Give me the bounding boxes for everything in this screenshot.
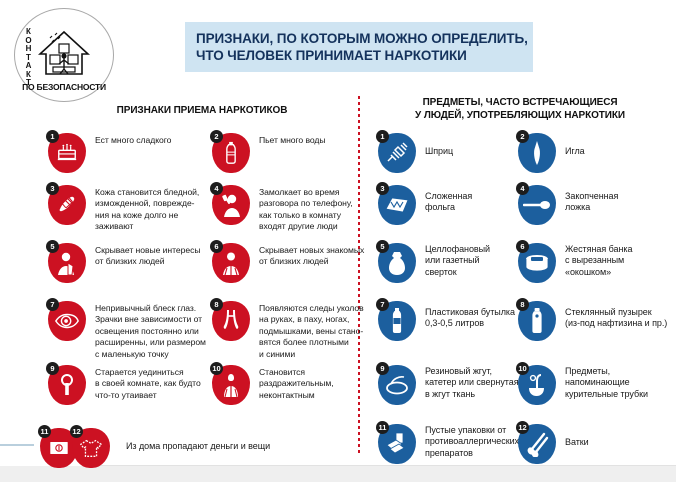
icon-badge: 1: [48, 133, 86, 173]
item-number: 11: [376, 421, 389, 434]
page-title-line2: ЧТО ЧЕЛОВЕК ПРИНИМАЕТ НАРКОТИКИ: [196, 47, 533, 64]
icon-badge: 5: [378, 243, 416, 283]
icon-badge-pair: 11 12: [40, 428, 110, 468]
item-number: 2: [516, 130, 529, 143]
item-number: 9: [376, 362, 389, 375]
item-text: Становится раздражительным, неконтактным: [250, 365, 334, 401]
item-number: 11: [38, 425, 51, 438]
item-text: Ест много сладкого: [86, 133, 171, 146]
list-item: 7 Непривычный блеск глаз. Зрачки вне зав…: [48, 301, 206, 360]
item-text: Скрывает новые интересы от близких людей: [86, 243, 200, 268]
item-text: Закопченная ложка: [556, 185, 618, 214]
icon-badge: 2: [518, 133, 556, 173]
item-text: Ватки: [556, 424, 589, 448]
list-item: 4 Закопченная ложка: [518, 185, 658, 225]
icon-badge: 11: [378, 424, 416, 464]
item-text: Пустые упаковки от противоаллергических …: [416, 424, 519, 459]
item-text: Скрывает новых знакомых от близких людей: [250, 243, 364, 268]
item-number: 5: [376, 240, 389, 253]
item-text: Стеклянный пузырек (из-под нафтизина и п…: [556, 301, 667, 330]
item-number: 2: [210, 130, 223, 143]
icon-badge: 7: [48, 301, 86, 341]
icon-badge: 12: [72, 428, 110, 468]
item-text: Непривычный блеск глаз. Зрачки вне завис…: [86, 301, 206, 360]
list-item: 11 Пустые упаковки от противоаллергическ…: [378, 424, 518, 464]
item-number: 7: [46, 298, 59, 311]
icon-badge: 12: [518, 424, 556, 464]
list-item: 1 Шприц: [378, 133, 518, 173]
item-text: Появляются следы уколов на руках, в паху…: [250, 301, 364, 360]
item-number: 7: [376, 298, 389, 311]
item-text: Игла: [556, 133, 585, 157]
decorative-rule-left: [0, 444, 34, 446]
item-text: Резиновый жгут, катетер или свернутая в …: [416, 365, 519, 400]
item-number: 10: [516, 362, 529, 375]
page-title-line1: ПРИЗНАКИ, ПО КОТОРЫМ МОЖНО ОПРЕДЕЛИТЬ,: [196, 30, 533, 47]
icon-badge: 10: [518, 365, 556, 405]
list-item: 9 Старается уединиться в своей комнате, …: [48, 365, 206, 405]
icon-badge: 1: [378, 133, 416, 173]
organization-logo: КОНТАКТ ПО БЕЗОПАСНОСТИ: [8, 6, 120, 104]
item-number: 4: [516, 182, 529, 195]
logo-vertical-word: КОНТАКТ: [24, 28, 33, 88]
item-number: 4: [210, 182, 223, 195]
right-column-heading: ПРЕДМЕТЫ, ЧАСТО ВСТРЕЧАЮЩИЕСЯ У ЛЮДЕЙ, У…: [372, 96, 668, 122]
list-item: 9 Резиновый жгут, катетер или свернутая …: [378, 365, 523, 405]
icon-badge: 9: [378, 365, 416, 405]
item-text: Кожа становится бледной, изможденной, по…: [86, 185, 203, 233]
list-item: 6 Жестяная банка с вырезанным «окошком»: [518, 243, 663, 283]
icon-badge: 7: [378, 301, 416, 341]
icon-badge: 5: [48, 243, 86, 283]
item-text: Старается уединиться в своей комнате, ка…: [86, 365, 201, 401]
logo-bottom-text: ПО БЕЗОПАСНОСТИ: [14, 82, 114, 92]
item-number: 10: [210, 362, 223, 375]
item-text: Сложенная фольга: [416, 185, 472, 214]
item-number: 12: [70, 425, 83, 438]
house-with-people-logo-icon: [38, 28, 90, 80]
list-item: 6 Скрывает новых знакомых от близких люд…: [212, 243, 367, 283]
list-item: 1 Ест много сладкого: [48, 133, 198, 173]
item-number: 6: [516, 240, 529, 253]
item-number: 1: [46, 130, 59, 143]
list-item: 11 12 Из дома пропадают деньги и вещи: [40, 428, 360, 468]
right-column-heading-line2: У ЛЮДЕЙ, УПОТРЕБЛЯЮЩИХ НАРКОТИКИ: [372, 109, 668, 122]
list-item: 3 Сложенная фольга: [378, 185, 513, 225]
item-text: Предметы, напоминающие курительные трубк…: [556, 365, 648, 400]
icon-badge: 6: [212, 243, 250, 283]
icon-badge: 4: [518, 185, 556, 225]
list-item: 5 Скрывает новые интересы от близких люд…: [48, 243, 203, 283]
icon-badge: 6: [518, 243, 556, 283]
icon-badge: 3: [48, 185, 86, 225]
icon-badge: 4: [212, 185, 250, 225]
item-text: Шприц: [416, 133, 453, 157]
item-number: 3: [46, 182, 59, 195]
icon-badge: 10: [212, 365, 250, 405]
item-text: Замолкает во время разговора по телефону…: [250, 185, 353, 233]
item-number: 12: [516, 421, 529, 434]
item-text: Пьет много воды: [250, 133, 326, 146]
item-number: 1: [376, 130, 389, 143]
item-number: 3: [376, 182, 389, 195]
right-column-heading-line1: ПРЕДМЕТЫ, ЧАСТО ВСТРЕЧАЮЩИЕСЯ: [372, 96, 668, 109]
icon-badge: 8: [518, 301, 556, 341]
list-item: 2 Игла: [518, 133, 658, 173]
list-item: 12 Ватки: [518, 424, 658, 464]
item-number: 9: [46, 362, 59, 375]
item-number: 8: [210, 298, 223, 311]
list-item: 4 Замолкает во время разговора по телефо…: [212, 185, 367, 233]
list-item: 2 Пьет много воды: [212, 133, 362, 173]
item-text: Из дома пропадают деньги и вещи: [110, 428, 270, 452]
list-item: 10 Предметы, напоминающие курительные тр…: [518, 365, 668, 405]
list-item: 7 Пластиковая бутылка 0,3-0,5 литров: [378, 301, 518, 341]
list-item: 8 Появляются следы уколов на руках, в па…: [212, 301, 370, 360]
list-item: 5 Целлофановый или газетный сверток: [378, 243, 513, 283]
icon-badge: 2: [212, 133, 250, 173]
list-item: 3 Кожа становится бледной, изможденной, …: [48, 185, 203, 233]
item-text: Пластиковая бутылка 0,3-0,5 литров: [416, 301, 515, 330]
icon-badge: 9: [48, 365, 86, 405]
icon-badge: 3: [378, 185, 416, 225]
item-number: 5: [46, 240, 59, 253]
list-item: 8 Стеклянный пузырек (из-под нафтизина и…: [518, 301, 673, 341]
item-text: Целлофановый или газетный сверток: [416, 243, 490, 278]
item-text: Жестяная банка с вырезанным «окошком»: [556, 243, 632, 278]
bottom-band: [0, 466, 676, 482]
item-number: 6: [210, 240, 223, 253]
page-title-banner: ПРИЗНАКИ, ПО КОТОРЫМ МОЖНО ОПРЕДЕЛИТЬ, Ч…: [185, 22, 533, 72]
icon-badge: 8: [212, 301, 250, 341]
item-number: 8: [516, 298, 529, 311]
list-item: 10 Становится раздражительным, неконтакт…: [212, 365, 370, 405]
left-column-heading: ПРИЗНАКИ ПРИЕМА НАРКОТИКОВ: [62, 104, 342, 117]
